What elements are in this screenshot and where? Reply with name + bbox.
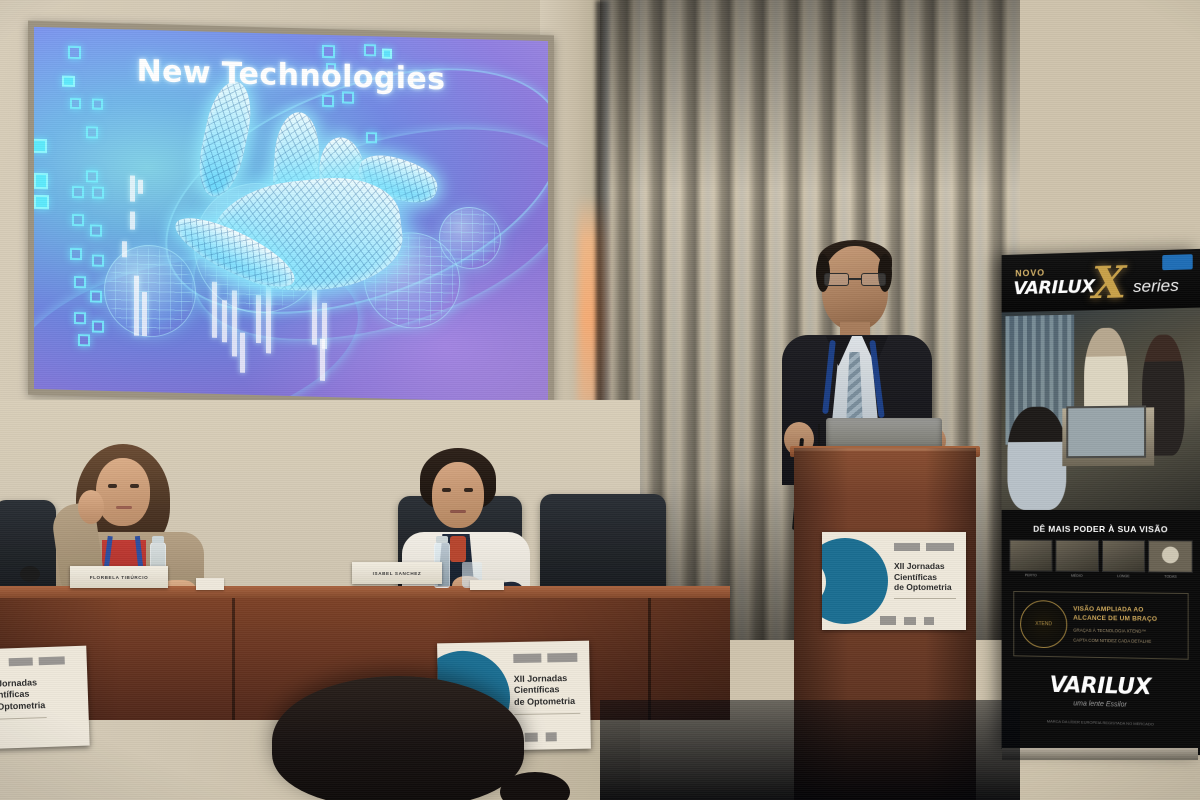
event-sign-footer-logos [880, 616, 934, 625]
banner-thumb [1101, 540, 1145, 572]
data-stream [130, 176, 135, 202]
banner-brand-top: VARILUX [1013, 276, 1094, 299]
paper-note [470, 580, 504, 590]
deco-square [34, 139, 47, 153]
banner-photo [1002, 308, 1200, 511]
panelist-1-eye [108, 484, 117, 488]
banner-feature-sub-1: GRAÇAS À TECNOLOGIA XTEND™ [1073, 627, 1181, 635]
banner-thumb-caption: MÉDIO [1055, 574, 1098, 578]
banner-thumb-caption: LONGE [1101, 574, 1145, 578]
banner-thumb [1055, 540, 1098, 572]
event-sign-title: XII Jornadas Científicas de Optometria [514, 673, 576, 708]
footer-logo [880, 616, 896, 625]
partner-logo [547, 653, 577, 663]
event-sign-title: XII Jornadas Científicas de Optometria [894, 561, 952, 593]
panelist-1-mouth [116, 506, 132, 509]
event-sign-table-left: XII Jornadas Científicas de Optometria [0, 646, 90, 751]
banner-feature-sub-2: CAPTA COM NITIDEZ CADA DETALHE [1073, 637, 1181, 645]
essilor-logo-badge [1162, 254, 1192, 270]
banner-footnote: MARCA DA LÍDER EUROPEIA REGISTADA NO MER… [1002, 717, 1200, 727]
deco-square [322, 45, 335, 58]
glasses-lens-left [824, 273, 849, 286]
panel-table-seam [232, 598, 235, 720]
event-sign-divider [514, 713, 580, 715]
banner-series-label: series [1133, 276, 1179, 297]
deco-square [90, 290, 102, 302]
panelist-1-head [96, 458, 150, 526]
banner-tagline: DÊ MAIS PODER À SUA VISÃO [1002, 510, 1200, 541]
partner-logo [513, 654, 541, 663]
data-stream [138, 180, 143, 194]
partner-logo [39, 656, 65, 665]
event-title-line-3: de Optometria [894, 582, 952, 593]
partner-logo [926, 543, 954, 551]
partner-logo [9, 657, 33, 666]
data-stream [240, 333, 245, 373]
data-stream [320, 339, 325, 381]
event-sign-partner-logos [894, 543, 954, 551]
data-stream [134, 276, 139, 336]
deco-square [90, 224, 102, 236]
event-sign-partner-logos [9, 656, 65, 666]
conference-photo-scene: New Technologies NOVO VARILUX X series D… [0, 0, 1200, 800]
deco-square [72, 186, 84, 198]
glasses-icon [824, 273, 886, 286]
panelist-2-eye [442, 488, 451, 492]
banner-base-stand [1002, 748, 1198, 760]
water-bottle-cap [152, 536, 164, 543]
banner-x-mark: X [1092, 257, 1126, 309]
deco-square [70, 98, 81, 109]
panelist-2-mouth [450, 510, 466, 513]
deco-square [92, 186, 104, 198]
deco-square [86, 126, 98, 138]
deco-square [86, 170, 98, 182]
glasses-bridge [849, 278, 861, 280]
footer-logo [924, 617, 934, 625]
panelist-2-eye [464, 488, 473, 492]
deco-square [78, 334, 90, 346]
glasses-lens-right [861, 273, 886, 286]
hand-finger [192, 77, 258, 202]
panelist-1-hand [78, 490, 104, 524]
projection-screen: New Technologies [34, 27, 548, 403]
event-sign-partner-logos [513, 653, 577, 663]
event-title-line-3: de Optometria [514, 695, 575, 707]
footer-logo [546, 732, 557, 741]
varilux-rollup-banner: NOVO VARILUX X series DÊ MAIS PODER À SU… [1002, 249, 1200, 755]
banner-photo-person [1007, 406, 1066, 510]
footer-logo [525, 732, 538, 741]
banner-header: NOVO VARILUX X series [1002, 249, 1200, 313]
event-logo-crescent [822, 538, 888, 624]
panelist-1-eye [130, 484, 139, 488]
deco-square [74, 312, 86, 324]
speaker-head [822, 246, 888, 330]
banner-thumb [1148, 540, 1192, 573]
banner-feature-box: XTEND VISÃO AMPLIADA AO ALCANCE DE UM BR… [1013, 591, 1188, 660]
panel-chair-empty [540, 494, 666, 600]
nameplate-panelist-2: ISABEL SANCHEZ [352, 562, 442, 584]
event-title-line-2: Científicas [894, 572, 952, 583]
banner-thumbnail-row [1002, 540, 1200, 573]
water-bottle-cap [436, 536, 448, 543]
data-stream [122, 241, 127, 257]
deco-square [382, 49, 392, 59]
deco-square [92, 98, 103, 109]
banner-thumb-caption: PERTO [1009, 573, 1052, 577]
lower-shadow-area [600, 700, 1020, 800]
nameplate-text: ISABEL SANCHEZ [373, 571, 422, 576]
footer-logo [904, 617, 916, 625]
deco-square [92, 254, 104, 266]
event-sign-subtext [894, 602, 895, 612]
event-title-line-1: XII Jornadas [514, 673, 575, 685]
event-sign-podium: XII Jornadas Científicas de Optometria [822, 532, 966, 630]
xtend-seal-icon: XTEND [1020, 600, 1067, 648]
deco-square [74, 276, 86, 288]
banner-feature-title-2: ALCANCE DE UM BRAÇO [1073, 615, 1181, 625]
banner-feature-text: VISÃO AMPLIADA AO ALCANCE DE UM BRAÇO GR… [1073, 606, 1181, 645]
event-sign-divider [894, 598, 956, 599]
deco-square [92, 320, 104, 332]
wireframe-hand-graphic [162, 72, 472, 341]
data-stream [130, 212, 135, 230]
event-sign-divider [0, 717, 47, 720]
data-stream [142, 292, 147, 336]
paper-note [196, 578, 224, 590]
event-sign-title: XII Jornadas Científicas de Optometria [0, 677, 45, 713]
deco-square [34, 173, 48, 189]
foreground-audience-head [272, 676, 524, 800]
partner-logo [894, 543, 920, 551]
deco-square [34, 195, 49, 209]
deco-square [72, 214, 84, 226]
deco-square [70, 248, 82, 260]
panelist-2-head [432, 462, 484, 528]
table-microphone-icon [20, 566, 40, 582]
banner-thumb [1009, 540, 1052, 572]
event-title-line-1: XII Jornadas [894, 561, 952, 572]
nameplate-text: FLORBELA TIBÚRCIO [90, 575, 149, 580]
banner-photo-monitor [1066, 405, 1146, 458]
deco-square [364, 44, 376, 56]
panelist-2-scarf [450, 536, 466, 562]
nameplate-panelist-1: FLORBELA TIBÚRCIO [70, 566, 168, 588]
event-title-line-3: de Optometria [0, 700, 45, 713]
banner-brand-logo: VARILUX [1002, 672, 1200, 702]
banner-thumb-caption: TODAS [1148, 574, 1192, 578]
